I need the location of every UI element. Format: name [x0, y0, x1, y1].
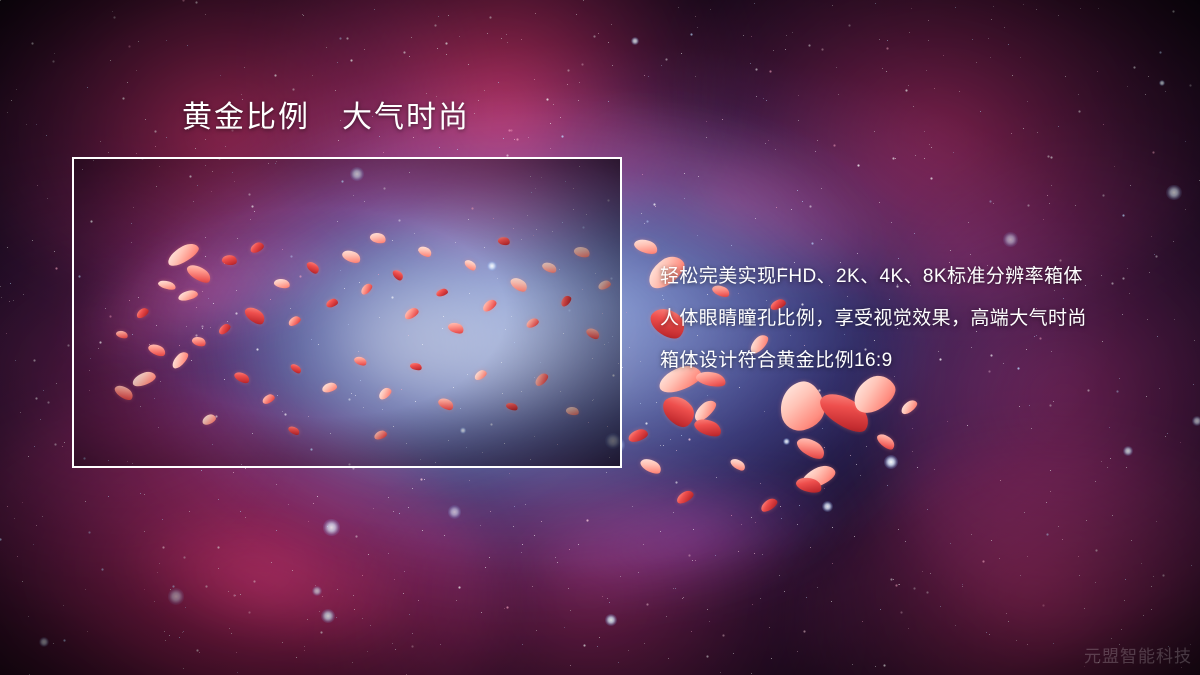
body-line-2: 人体眼睛瞳孔比例，享受视觉效果，高端大气时尚	[660, 298, 1160, 340]
slide-canvas: 黄金比例 大气时尚 轻松完美实现FHD、2K、4K、8K标准分辨率箱体 人体眼睛…	[0, 0, 1200, 675]
framed-nebula-image	[74, 159, 620, 466]
page-title: 黄金比例 大气时尚	[182, 100, 470, 136]
body-copy: 轻松完美实现FHD、2K、4K、8K标准分辨率箱体 人体眼睛瞳孔比例，享受视觉效…	[660, 256, 1160, 382]
watermark: 元盟智能科技	[1084, 642, 1192, 667]
picture-frame[interactable]	[72, 157, 622, 468]
picture-frame-inner	[74, 159, 620, 466]
body-line-3: 箱体设计符合黄金比例16:9	[660, 340, 1160, 382]
body-line-1: 轻松完美实现FHD、2K、4K、8K标准分辨率箱体	[660, 256, 1160, 298]
